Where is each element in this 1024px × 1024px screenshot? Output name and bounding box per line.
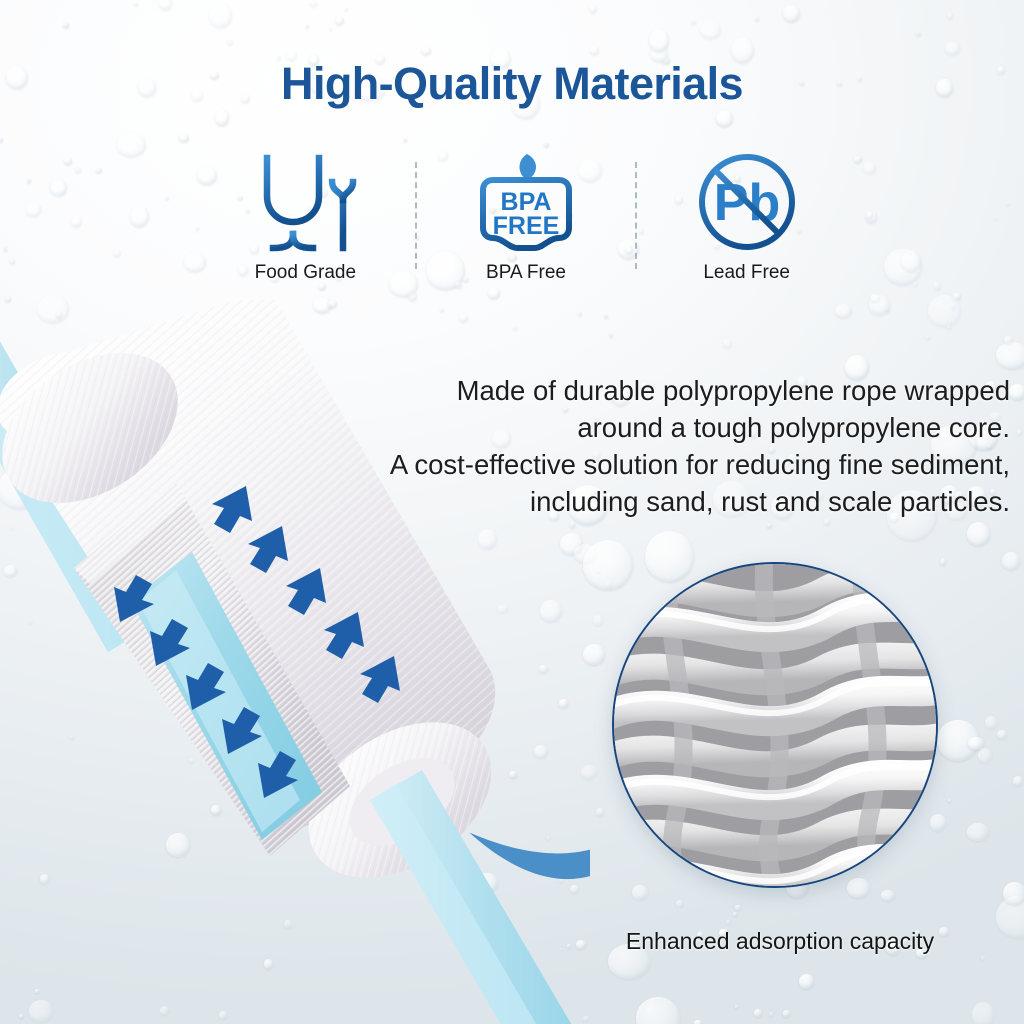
- water-droplet: [978, 748, 992, 763]
- water-droplet: [694, 1020, 702, 1024]
- badge-label: BPA Free: [486, 262, 566, 284]
- water-droplet: [476, 873, 498, 892]
- water-droplet: [392, 569, 400, 576]
- water-droplet: [509, 771, 517, 778]
- water-droplet: [997, 730, 1007, 739]
- water-droplet: [647, 1008, 651, 1012]
- water-droplet: [863, 162, 877, 175]
- water-outlet-tube: [370, 770, 590, 1024]
- dashed-divider-2: [635, 162, 637, 269]
- magnifier-pointer-swoosh: [465, 781, 590, 889]
- water-droplet: [371, 653, 395, 677]
- water-droplet: [440, 308, 444, 312]
- water-droplet: [726, 920, 730, 924]
- water-droplet: [981, 956, 985, 959]
- water-droplet: [574, 544, 597, 564]
- description-paragraph: Made of durable polypropylene rope wrapp…: [318, 372, 1010, 520]
- water-droplet: [716, 110, 734, 127]
- water-droplet: [401, 696, 410, 704]
- water-droplet: [29, 1000, 53, 1022]
- water-droplet: [560, 533, 583, 555]
- water-droplet: [273, 785, 281, 794]
- water-droplet: [940, 558, 946, 565]
- water-droplet: [783, 1010, 790, 1016]
- flow-arrow: [114, 575, 154, 622]
- water-droplet: [387, 565, 410, 589]
- water-droplet: [159, 0, 172, 10]
- water-droplet: [596, 569, 600, 572]
- badge-bpa-free: BPA FREE BPA Free: [417, 152, 636, 284]
- water-droplet: [590, 46, 599, 55]
- water-droplet: [70, 735, 74, 739]
- water-droplet: [589, 4, 597, 13]
- water-droplet: [583, 1016, 588, 1022]
- water-droplet: [35, 989, 39, 992]
- water-droplet: [459, 314, 467, 322]
- water-droplet: [994, 216, 998, 221]
- water-droplet: [363, 585, 380, 600]
- water-droplet: [632, 885, 648, 900]
- water-droplet: [56, 312, 62, 318]
- badge-label: Lead Free: [703, 262, 790, 284]
- description-line: including sand, rust and scale particles…: [318, 483, 1010, 520]
- flow-arrow: [186, 663, 226, 710]
- water-droplet: [884, 249, 922, 286]
- water-droplet: [953, 293, 961, 300]
- water-droplet: [947, 13, 953, 19]
- filter-core-channel: [130, 552, 322, 840]
- water-droplet: [0, 138, 3, 142]
- flow-arrow: [324, 612, 364, 659]
- water-droplet: [130, 206, 149, 227]
- water-droplet: [27, 179, 31, 183]
- water-droplet: [89, 489, 93, 493]
- water-droplet: [478, 529, 497, 550]
- water-droplet: [544, 143, 548, 148]
- water-droplet: [933, 281, 941, 289]
- water-droplet: [40, 874, 49, 884]
- water-droplet: [866, 211, 874, 219]
- flow-arrow: [150, 619, 190, 666]
- flow-arrow: [248, 526, 288, 573]
- bpa-free-icon: BPA FREE: [477, 152, 575, 252]
- water-droplet: [691, 20, 695, 24]
- water-droplet: [559, 699, 568, 708]
- water-droplet: [71, 215, 81, 226]
- water-droplet: [284, 920, 293, 928]
- water-droplet: [310, 0, 317, 6]
- water-droplet: [403, 708, 414, 719]
- water-droplet: [1017, 430, 1023, 435]
- water-droplet: [1009, 384, 1024, 400]
- water-droplet: [928, 295, 961, 327]
- water-droplet: [1004, 336, 1012, 344]
- water-droplet: [605, 581, 613, 588]
- water-droplet: [947, 325, 951, 329]
- water-droplet: [951, 304, 955, 308]
- water-droplet: [769, 1012, 773, 1016]
- flow-arrow: [258, 751, 298, 798]
- water-droplet: [434, 715, 438, 719]
- certification-badges: Food Grade BPA FREE: [196, 152, 856, 297]
- water-droplet: [870, 294, 880, 302]
- water-droplet: [649, 29, 669, 51]
- water-droplet: [160, 1006, 170, 1015]
- water-droplet: [700, 21, 721, 38]
- water-droplet: [581, 765, 598, 779]
- water-droplet: [534, 745, 548, 758]
- water-droplet: [306, 25, 309, 28]
- water-droplet: [210, 321, 219, 330]
- water-droplet: [209, 3, 232, 28]
- water-droplet: [502, 946, 519, 960]
- water-droplet: [996, 896, 1024, 937]
- water-droplet: [754, 1009, 762, 1017]
- water-droplet: [578, 542, 582, 546]
- water-droplet: [19, 1014, 23, 1018]
- water-droplet: [723, 339, 732, 348]
- water-droplet: [0, 468, 41, 509]
- water-droplet: [172, 337, 181, 346]
- water-droplet: [502, 943, 506, 947]
- water-droplet: [996, 342, 1024, 369]
- flow-arrow: [212, 486, 252, 533]
- water-droplet: [539, 665, 548, 673]
- water-droplet: [266, 695, 297, 725]
- water-droplet: [189, 758, 194, 763]
- badge-lead-free: Pb Lead Free: [637, 152, 856, 284]
- water-droplet: [967, 522, 990, 546]
- water-droplet: [985, 716, 997, 729]
- water-droplet: [50, 180, 67, 196]
- page-title: High-Quality Materials: [0, 58, 1024, 110]
- water-droplet: [37, 295, 69, 323]
- water-droplet: [64, 157, 72, 165]
- water-droplet: [444, 821, 452, 829]
- water-droplet: [869, 295, 889, 315]
- water-droplet: [329, 28, 332, 31]
- water-droplet: [4, 565, 17, 577]
- water-droplet: [885, 306, 890, 312]
- water-droplet: [215, 109, 230, 125]
- water-droplet: [26, 202, 41, 217]
- water-droplet: [1003, 882, 1024, 905]
- water-droplet: [328, 300, 337, 308]
- fiber-weave-closeup: [612, 562, 938, 888]
- water-droplet: [264, 959, 273, 968]
- water-droplet: [63, 22, 70, 28]
- water-droplet: [140, 358, 144, 362]
- water-droplet: [593, 615, 602, 625]
- water-droplet: [4, 247, 7, 250]
- water-droplet: [824, 519, 831, 525]
- water-droplet: [166, 833, 190, 857]
- water-droplet: [29, 620, 32, 623]
- water-droplet: [497, 605, 507, 614]
- water-droplet: [298, 499, 319, 519]
- water-droplet: [166, 606, 170, 611]
- water-droplet: [636, 997, 680, 1024]
- lead-free-icon: Pb: [697, 152, 797, 252]
- water-droplet: [305, 794, 317, 807]
- water-droplet: [767, 523, 772, 528]
- water-droplet: [113, 249, 121, 257]
- water-droplet: [945, 42, 960, 55]
- water-droplet: [733, 912, 737, 916]
- water-droplet: [968, 737, 983, 750]
- water-droplet: [165, 325, 172, 331]
- water-droplet: [913, 281, 918, 287]
- water-droplet: [866, 212, 878, 223]
- infographic-page: High-Quality Materials: [0, 0, 1024, 1024]
- water-droplet: [881, 890, 894, 901]
- water-droplet: [676, 900, 683, 906]
- water-droplet: [117, 133, 146, 157]
- water-droplet: [948, 799, 951, 802]
- inward-flow-arrows: [114, 486, 400, 798]
- water-droplet: [227, 39, 233, 45]
- description-line: around a tough polypropylene core.: [318, 409, 1010, 446]
- water-droplet: [583, 540, 633, 590]
- water-droplet: [578, 312, 583, 316]
- water-droplet: [513, 326, 516, 329]
- water-droplet: [1006, 202, 1010, 206]
- dashed-divider-1: [415, 162, 417, 269]
- water-droplet: [165, 196, 169, 200]
- water-droplet: [937, 720, 979, 761]
- water-droplet: [967, 823, 989, 842]
- water-droplet: [559, 878, 563, 882]
- water-droplet: [219, 1011, 228, 1019]
- water-droplet: [835, 304, 852, 318]
- water-droplet: [377, 624, 397, 643]
- water-droplet: [183, 324, 187, 329]
- water-droplet: [972, 1002, 994, 1024]
- water-droplet: [930, 814, 946, 831]
- water-droplet: [404, 138, 407, 141]
- flow-arrow: [360, 656, 400, 703]
- water-droplet: [645, 531, 694, 582]
- water-droplet: [403, 674, 412, 683]
- water-droplet: [583, 644, 604, 665]
- description-line: A cost-effective solution for reducing f…: [318, 446, 1010, 483]
- water-droplet: [604, 315, 608, 318]
- water-droplet: [735, 905, 740, 910]
- water-droplet: [925, 335, 930, 340]
- badge-food-grade: Food Grade: [196, 152, 415, 284]
- water-droplet: [229, 657, 242, 669]
- water-droplet: [96, 168, 102, 173]
- water-droplet: [10, 258, 15, 263]
- water-droplet: [799, 974, 814, 989]
- water-droplet: [421, 47, 431, 55]
- magnifier-caption: Enhanced adsorption capacity: [560, 928, 1000, 955]
- water-droplet: [570, 522, 575, 527]
- water-droplet: [134, 2, 138, 6]
- water-droplet: [10, 525, 14, 530]
- water-droplet: [547, 836, 551, 840]
- water-droplet: [783, 5, 799, 21]
- badge-label: Food Grade: [255, 262, 356, 284]
- flow-arrow: [222, 707, 262, 754]
- water-droplet: [1002, 552, 1020, 570]
- water-droplet: [246, 403, 250, 407]
- cutaway-section: [74, 482, 350, 856]
- water-droplet: [916, 31, 921, 36]
- food-grade-icon: [253, 152, 357, 252]
- water-droplet: [335, 16, 344, 25]
- description-line: Made of durable polypropylene rope wrapp…: [318, 372, 1010, 409]
- water-droplet: [847, 878, 870, 897]
- water-droplet: [540, 600, 562, 623]
- water-droplet: [479, 931, 488, 941]
- water-droplet: [755, 17, 759, 20]
- water-droplet: [75, 167, 81, 173]
- water-inlet-tube: [0, 310, 160, 652]
- water-droplet: [141, 416, 150, 426]
- water-droplet: [313, 297, 331, 313]
- bpa-text-line2: FREE: [493, 212, 560, 240]
- water-droplet: [596, 808, 604, 815]
- water-droplet: [69, 397, 74, 403]
- water-droplet: [344, 8, 347, 11]
- water-droplet: [609, 334, 613, 338]
- water-droplet: [5, 296, 11, 302]
- water-droplet: [735, 1005, 738, 1008]
- water-droplet: [570, 885, 579, 893]
- water-droplet: [901, 250, 921, 272]
- water-droplet: [179, 134, 189, 142]
- water-droplet: [211, 805, 221, 815]
- flow-arrow: [286, 568, 326, 615]
- water-droplet: [1013, 776, 1023, 786]
